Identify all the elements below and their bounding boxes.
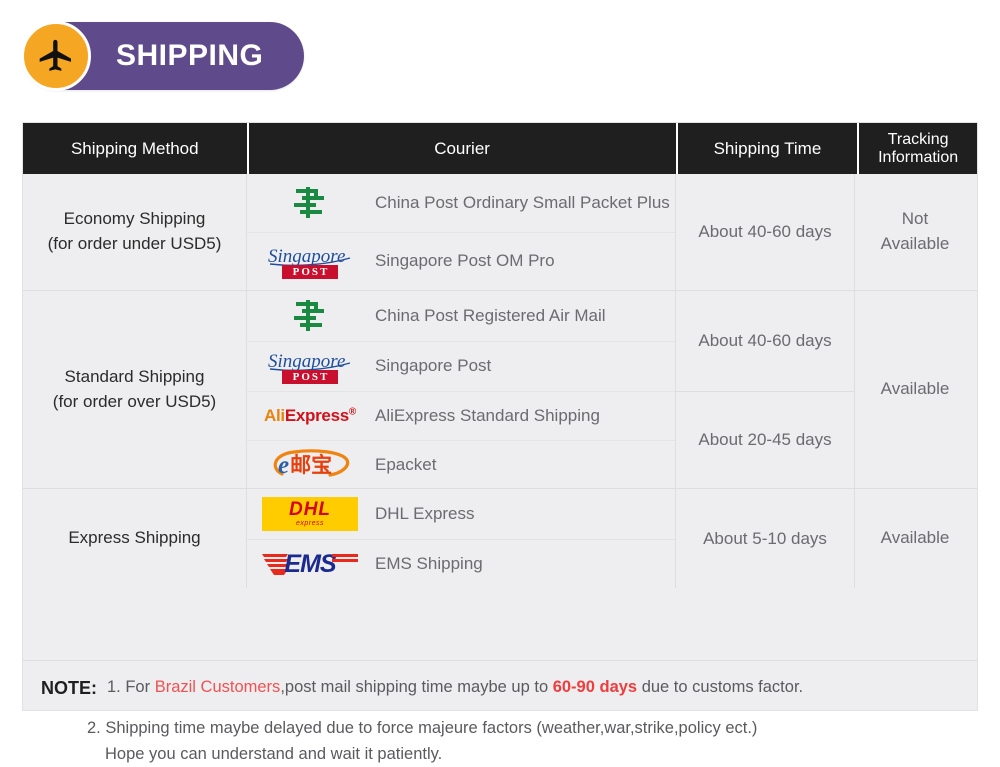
cell-shipping-method: Standard Shipping (for order over USD5)	[23, 291, 247, 488]
courier-name: China Post Ordinary Small Packet Plus	[363, 191, 670, 216]
shipping-time-value: About 20-45 days	[676, 391, 854, 488]
note-item1-prefix: 1. For	[107, 678, 155, 696]
note-section: NOTE: 1. For Brazil Customers,post mail …	[23, 660, 977, 760]
courier-name: Singapore Post	[363, 354, 491, 379]
column-header-courier: Courier	[249, 123, 676, 174]
courier-item: DHL express DHL Express	[247, 489, 675, 539]
shipping-time-value: About 40-60 days	[676, 174, 854, 290]
ems-logo: EMS	[257, 544, 363, 584]
note-item1-suffix: due to customs factor.	[637, 678, 803, 696]
tracking-line1: Available	[881, 377, 950, 402]
singapore-post-logo: Singapore POST	[257, 347, 363, 387]
table-row: Standard Shipping (for order over USD5)	[23, 290, 977, 488]
courier-item: China Post Ordinary Small Packet Plus	[247, 174, 675, 232]
table-body: Economy Shipping (for order under USD5)	[23, 174, 977, 660]
ems-text: EMS	[284, 552, 335, 577]
airplane-icon	[21, 21, 91, 91]
courier-item: Singapore POST Singapore Post OM Pro	[247, 232, 675, 289]
courier-name: China Post Registered Air Mail	[363, 304, 606, 329]
courier-item: Singapore POST Singapore Post	[247, 341, 675, 391]
courier-item: EMS EMS Shipping	[247, 539, 675, 588]
epacket-logo: e 邮宝	[257, 445, 363, 485]
cell-shipping-times: About 40-60 days	[675, 174, 855, 290]
dhl-logo: DHL express	[257, 494, 363, 534]
cell-couriers: China Post Ordinary Small Packet Plus Si…	[247, 174, 675, 290]
note-highlight-brazil: Brazil Customers	[155, 678, 281, 696]
cell-tracking: Not Available	[855, 174, 975, 290]
courier-name: Singapore Post OM Pro	[363, 249, 555, 274]
courier-name: AliExpress Standard Shipping	[363, 404, 600, 429]
svg-text:Singapore: Singapore	[268, 351, 345, 372]
courier-name: Epacket	[363, 453, 436, 478]
banner-title: SHIPPING	[116, 41, 263, 71]
shipping-banner: SHIPPING	[22, 22, 304, 90]
note-item2-line2: Hope you can understand and wait it pati…	[87, 742, 959, 767]
note-label: NOTE:	[41, 675, 97, 702]
cell-tracking: Available	[855, 489, 975, 588]
shipping-table: Shipping Method Courier Shipping Time Tr…	[22, 122, 978, 711]
note-highlight-days: 60-90 days	[553, 678, 637, 696]
shipping-time-value: About 40-60 days	[676, 291, 854, 391]
cell-couriers: DHL express DHL Express	[247, 489, 675, 588]
column-header-shipping-time: Shipping Time	[678, 123, 858, 174]
tracking-line2: Available	[881, 232, 950, 257]
tracking-header-line1: Tracking	[878, 131, 958, 149]
table-row: Express Shipping DHL express DHL Express	[23, 488, 977, 588]
courier-item: China Post Registered Air Mail	[247, 291, 675, 341]
note-item2-line1: 2. Shipping time maybe delayed due to fo…	[87, 716, 959, 742]
tracking-line1: Not	[881, 207, 950, 232]
courier-item: e 邮宝 Epacket	[247, 440, 675, 489]
note-item-1: 1. For Brazil Customers,post mail shippi…	[107, 675, 803, 700]
dhl-subtext: express	[296, 520, 324, 527]
column-header-tracking-information: Tracking Information	[859, 123, 977, 174]
method-line1: Express Shipping	[68, 526, 200, 551]
china-post-logo	[257, 183, 363, 223]
table-row: Economy Shipping (for order under USD5)	[23, 174, 977, 290]
singapore-post-box: POST	[282, 370, 339, 384]
shipping-info-page: SHIPPING Shipping Method Courier Shippin…	[0, 0, 1000, 748]
courier-item: AliExpress® AliExpress Standard Shipping	[247, 391, 675, 440]
tracking-header-line2: Information	[878, 149, 958, 167]
courier-name: DHL Express	[363, 502, 475, 527]
aliexpress-part1: Ali	[264, 406, 285, 425]
svg-text:Singapore: Singapore	[268, 246, 345, 267]
aliexpress-logo: AliExpress®	[257, 396, 363, 436]
china-post-logo	[257, 296, 363, 336]
courier-name: EMS Shipping	[363, 552, 483, 577]
singapore-post-logo: Singapore POST	[257, 241, 363, 281]
aliexpress-trademark: ®	[349, 406, 356, 417]
cell-tracking: Available	[855, 291, 975, 488]
epacket-chars: 邮宝	[290, 455, 332, 476]
cell-shipping-method: Economy Shipping (for order under USD5)	[23, 174, 247, 290]
shipping-time-value: About 5-10 days	[676, 489, 854, 588]
note-item-2: 2. Shipping time maybe delayed due to fo…	[41, 716, 959, 767]
method-line1: Standard Shipping	[53, 365, 216, 390]
tracking-line1: Available	[881, 526, 950, 551]
epacket-letter: e	[278, 453, 289, 478]
table-header-row: Shipping Method Courier Shipping Time Tr…	[23, 123, 977, 174]
cell-shipping-times: About 40-60 days About 20-45 days	[675, 291, 855, 488]
method-line2: (for order under USD5)	[48, 232, 222, 257]
method-line1: Economy Shipping	[48, 207, 222, 232]
cell-couriers: China Post Registered Air Mail Singapore…	[247, 291, 675, 488]
singapore-post-box: POST	[282, 265, 339, 279]
dhl-text: DHL	[289, 501, 331, 519]
cell-shipping-times: About 5-10 days	[675, 489, 855, 588]
aliexpress-part2: Express	[285, 406, 349, 425]
column-header-shipping-method: Shipping Method	[23, 123, 247, 174]
method-line2: (for order over USD5)	[53, 390, 216, 415]
note-item1-middle: ,post mail shipping time maybe up to	[280, 678, 552, 696]
cell-shipping-method: Express Shipping	[23, 489, 247, 588]
